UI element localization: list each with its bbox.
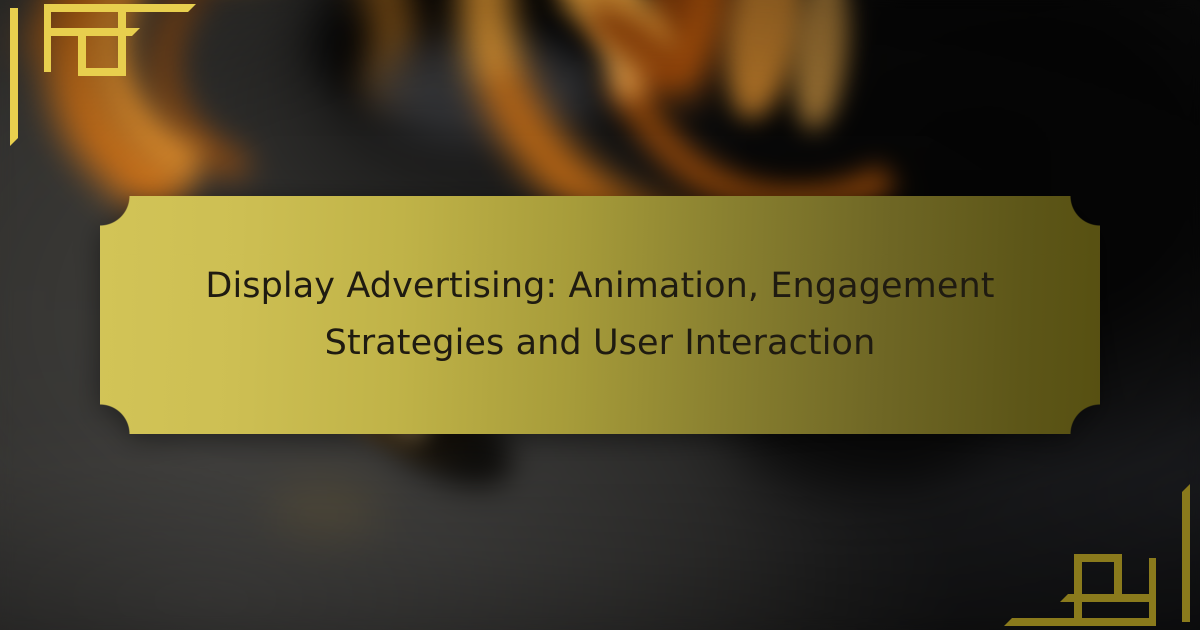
title-card-canvas: Display Advertising: Animation, Engageme… <box>0 0 1200 630</box>
page-title: Display Advertising: Animation, Engageme… <box>160 258 1040 372</box>
corner-ornament-top-left-icon <box>0 0 200 200</box>
corner-ornament-bottom-right-icon <box>1000 430 1200 630</box>
title-card: Display Advertising: Animation, Engageme… <box>100 196 1100 434</box>
